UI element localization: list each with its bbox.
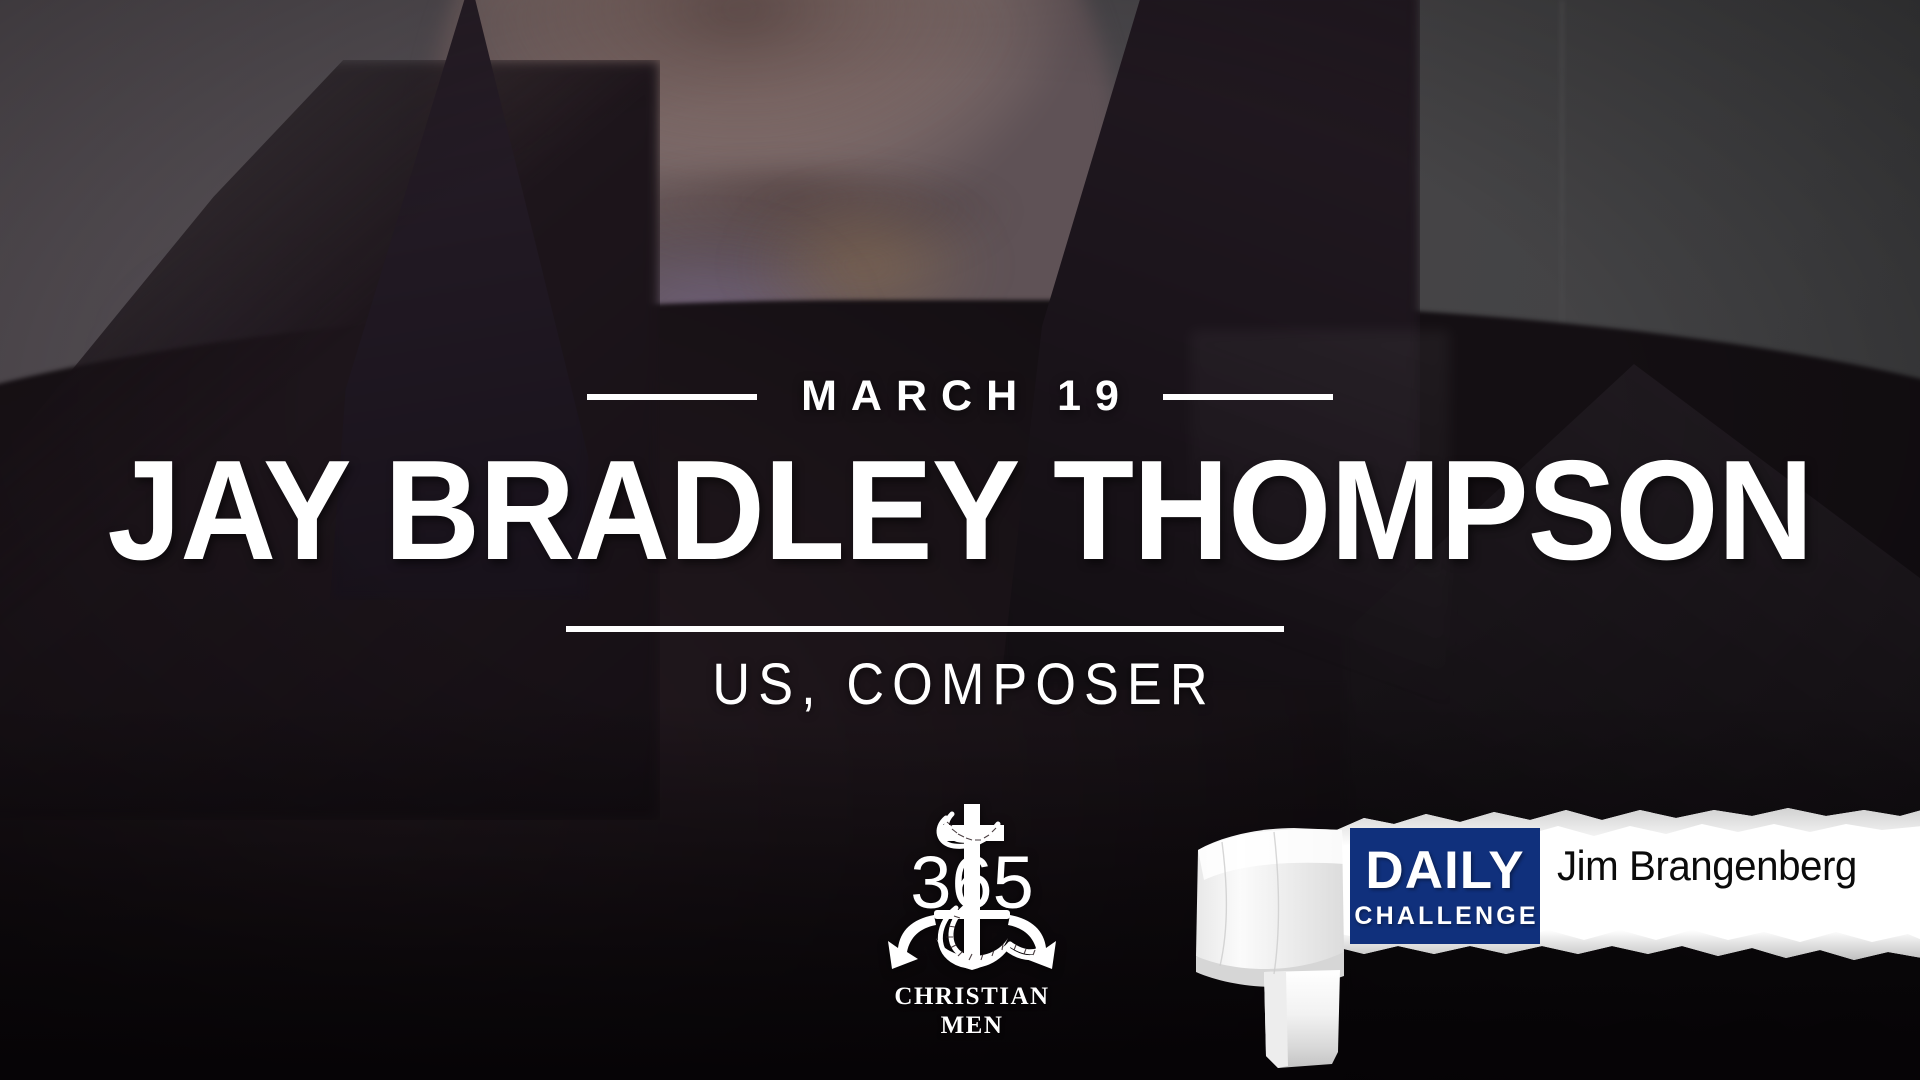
date-rule-left — [587, 394, 757, 400]
anchor-cross-rope-icon: 365 — [872, 798, 1072, 983]
brand-logo: 365 CHRISTIAN MEN — [872, 798, 1072, 1048]
person-name: JAY BRADLEY THOMPSON — [62, 440, 1857, 582]
name-divider-rule — [566, 626, 1284, 632]
date-rule-right — [1163, 394, 1333, 400]
badge-challenge-label: CHALLENGE — [1351, 904, 1539, 929]
logo-word-line1: CHRISTIAN — [894, 983, 1049, 1012]
host-name-label: Jim Brangenberg — [1557, 842, 1857, 890]
date-label: MARCH 19 — [787, 372, 1133, 421]
daily-challenge-badge: DAILY CHALLENGE — [1350, 828, 1540, 944]
date-row: MARCH 19 — [0, 372, 1920, 421]
logo-wordmark: CHRISTIAN MEN — [894, 983, 1049, 1041]
slide-canvas: MARCH 19 JAY BRADLEY THOMPSON US, COMPOS… — [0, 0, 1920, 1080]
svg-text:365: 365 — [910, 841, 1033, 924]
torn-paper-graphic — [1182, 780, 1920, 1080]
person-role: US, COMPOSER — [96, 651, 1824, 718]
daily-challenge-banner: DAILY CHALLENGE Jim Brangenberg — [1182, 780, 1920, 1080]
logo-word-line2: MEN — [894, 1012, 1049, 1041]
badge-daily-label: DAILY — [1365, 844, 1524, 897]
